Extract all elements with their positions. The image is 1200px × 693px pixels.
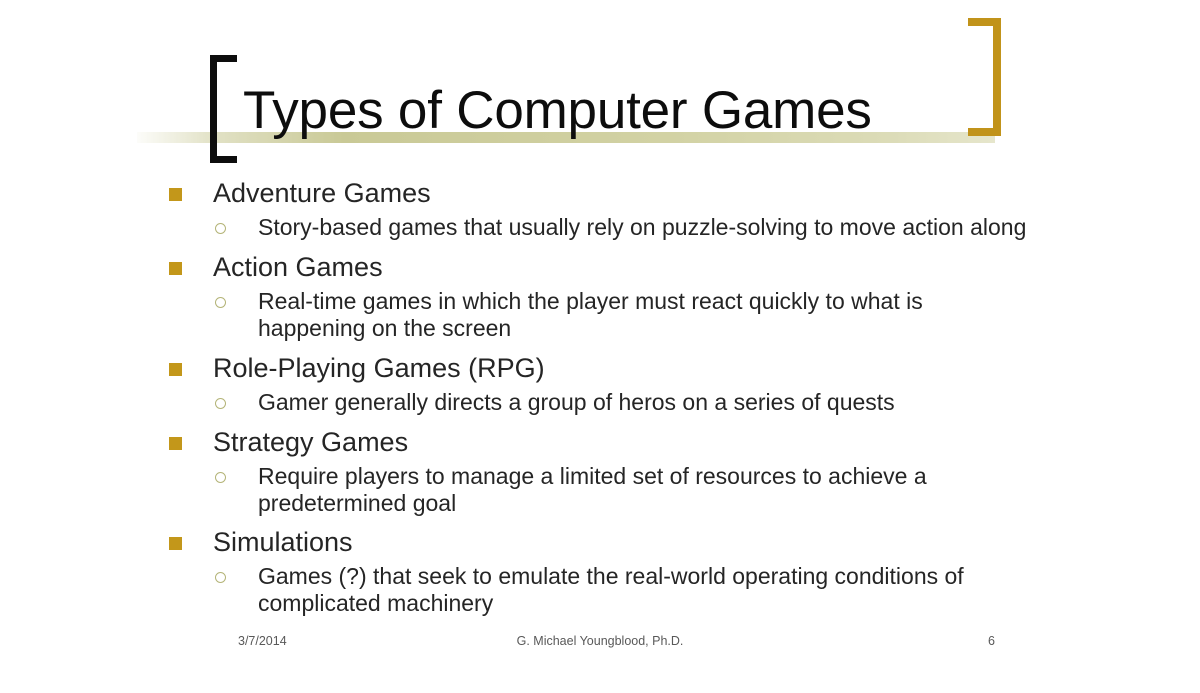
footer-presenter: G. Michael Youngblood, Ph.D. [0,634,1200,648]
list-item-level2: Gamer generally directs a group of heros… [0,389,1200,416]
list-item-label: Action Games [213,252,383,282]
list-item-label: Story-based games that usually rely on p… [258,214,1026,240]
group-spacer [0,416,1200,424]
list-item-label: Simulations [213,527,353,557]
circle-bullet-icon [215,572,226,583]
footer-slide-number: 6 [988,634,995,648]
bullet-group: Adventure Games Story-based games that u… [0,178,1200,241]
square-bullet-icon [169,437,182,450]
list-item-level2: Story-based games that usually rely on p… [0,214,1200,241]
circle-bullet-icon [215,398,226,409]
open-bracket-icon [210,55,237,163]
circle-bullet-icon [215,297,226,308]
list-item-level2: Games (?) that seek to emulate the real-… [0,563,1200,617]
list-item-label: Gamer generally directs a group of heros… [258,389,895,415]
list-item-label: Games (?) that seek to emulate the real-… [258,563,964,616]
list-item-level1: Simulations [0,527,1200,561]
list-item-label: Real-time games in which the player must… [258,288,923,341]
circle-bullet-icon [215,472,226,483]
list-item-level2: Real-time games in which the player must… [0,288,1200,342]
list-item-level1: Adventure Games [0,178,1200,212]
list-item-level1: Role-Playing Games (RPG) [0,353,1200,387]
slide-footer: 3/7/2014 G. Michael Youngblood, Ph.D. 6 [0,634,1200,654]
bullet-group: Action Games Real-time games in which th… [0,252,1200,342]
group-spacer [0,342,1200,350]
square-bullet-icon [169,188,182,201]
list-item-label: Adventure Games [213,178,431,208]
square-bullet-icon [169,537,182,550]
list-item-label: Strategy Games [213,427,408,457]
slide-canvas: Types of Computer Games Adventure Games … [0,0,1200,693]
square-bullet-icon [169,262,182,275]
list-item-level1: Strategy Games [0,427,1200,461]
bullet-group: Role-Playing Games (RPG) Gamer generally… [0,353,1200,416]
page-title: Types of Computer Games [243,84,872,138]
square-bullet-icon [169,363,182,376]
close-bracket-icon [968,18,1001,136]
list-item-level1: Action Games [0,252,1200,286]
bullet-group: Strategy Games Require players to manage… [0,427,1200,517]
list-item-level2: Require players to manage a limited set … [0,463,1200,517]
list-item-label: Require players to manage a limited set … [258,463,927,516]
circle-bullet-icon [215,223,226,234]
list-item-label: Role-Playing Games (RPG) [213,353,545,383]
bullet-list: Adventure Games Story-based games that u… [0,175,1200,617]
group-spacer [0,516,1200,524]
title-block: Types of Computer Games [0,0,1200,175]
bullet-group: Simulations Games (?) that seek to emula… [0,527,1200,617]
group-spacer [0,241,1200,249]
